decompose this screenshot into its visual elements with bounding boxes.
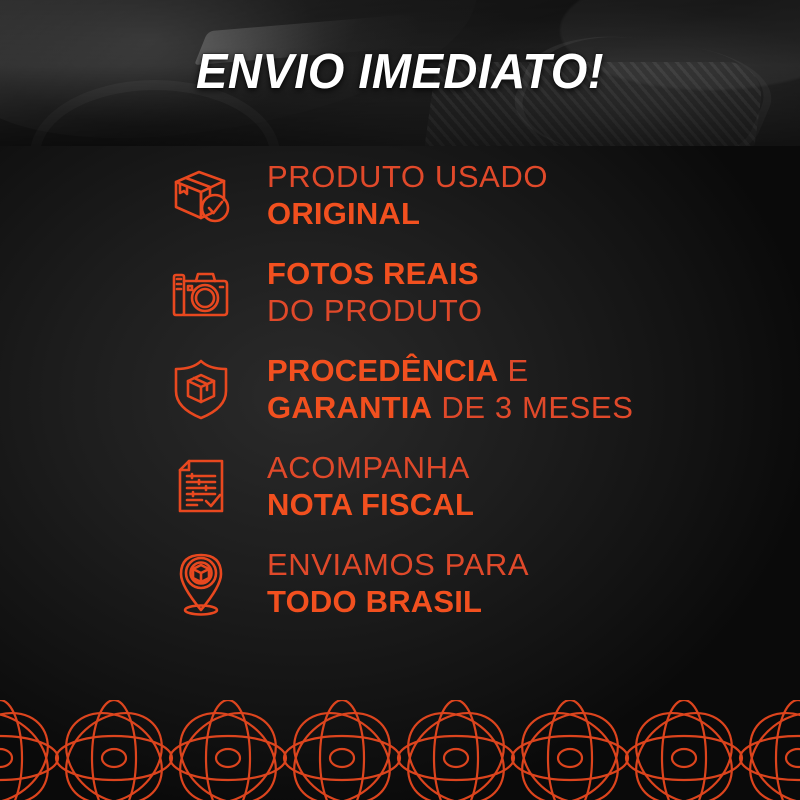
feature-item-todo-brasil: ENVIAMOS PARA TODO BRASIL: [0, 534, 800, 631]
feature-line-1-strong: PROCEDÊNCIA: [267, 353, 498, 388]
ornament-svg: [0, 700, 800, 800]
feature-line-1: ACOMPANHA: [267, 452, 474, 483]
feature-line-2: TODO BRASIL: [267, 586, 529, 617]
feature-line-1: ENVIAMOS PARA: [267, 549, 529, 580]
feature-line-1-suffix: E: [498, 353, 529, 388]
feature-line-2: GARANTIA DE 3 MESES: [267, 392, 633, 423]
feature-text: ENVIAMOS PARA TODO BRASIL: [267, 549, 529, 617]
map-pin-box-icon: [163, 543, 239, 623]
feature-text: ACOMPANHA NOTA FISCAL: [267, 452, 474, 520]
feature-text: PROCEDÊNCIA E GARANTIA DE 3 MESES: [267, 355, 633, 423]
feature-line-2: NOTA FISCAL: [267, 489, 474, 520]
feature-line-2-strong: GARANTIA: [267, 390, 432, 425]
feature-line-1: PROCEDÊNCIA E: [267, 355, 633, 386]
feature-line-2: ORIGINAL: [267, 198, 548, 229]
invoice-document-check-icon: [163, 446, 239, 526]
feature-list: PRODUTO USADO ORIGINAL: [0, 146, 800, 631]
promo-banner: ENVIO IMEDIATO!: [0, 0, 800, 800]
feature-item-produto-usado-original: PRODUTO USADO ORIGINAL: [0, 146, 800, 243]
feature-item-fotos-reais: FOTOS REAIS DO PRODUTO: [0, 243, 800, 340]
feature-line-2: DO PRODUTO: [267, 295, 483, 326]
camera-icon: [163, 252, 239, 332]
feature-item-procedencia-garantia: PROCEDÊNCIA E GARANTIA DE 3 MESES: [0, 340, 800, 437]
feature-text: PRODUTO USADO ORIGINAL: [267, 161, 548, 229]
feature-text: FOTOS REAIS DO PRODUTO: [267, 258, 483, 326]
shield-box-icon: [163, 349, 239, 429]
feature-line-2-suffix: DE 3 MESES: [432, 390, 633, 425]
package-box-check-icon: [163, 155, 239, 235]
page-title: ENVIO IMEDIATO!: [16, 44, 784, 100]
floral-lattice-border: [0, 700, 800, 800]
feature-line-1: FOTOS REAIS: [267, 258, 483, 289]
feature-item-nota-fiscal: ACOMPANHA NOTA FISCAL: [0, 437, 800, 534]
banner-body: PRODUTO USADO ORIGINAL: [0, 146, 800, 800]
feature-line-1: PRODUTO USADO: [267, 161, 548, 192]
banner-header: ENVIO IMEDIATO!: [0, 0, 800, 146]
